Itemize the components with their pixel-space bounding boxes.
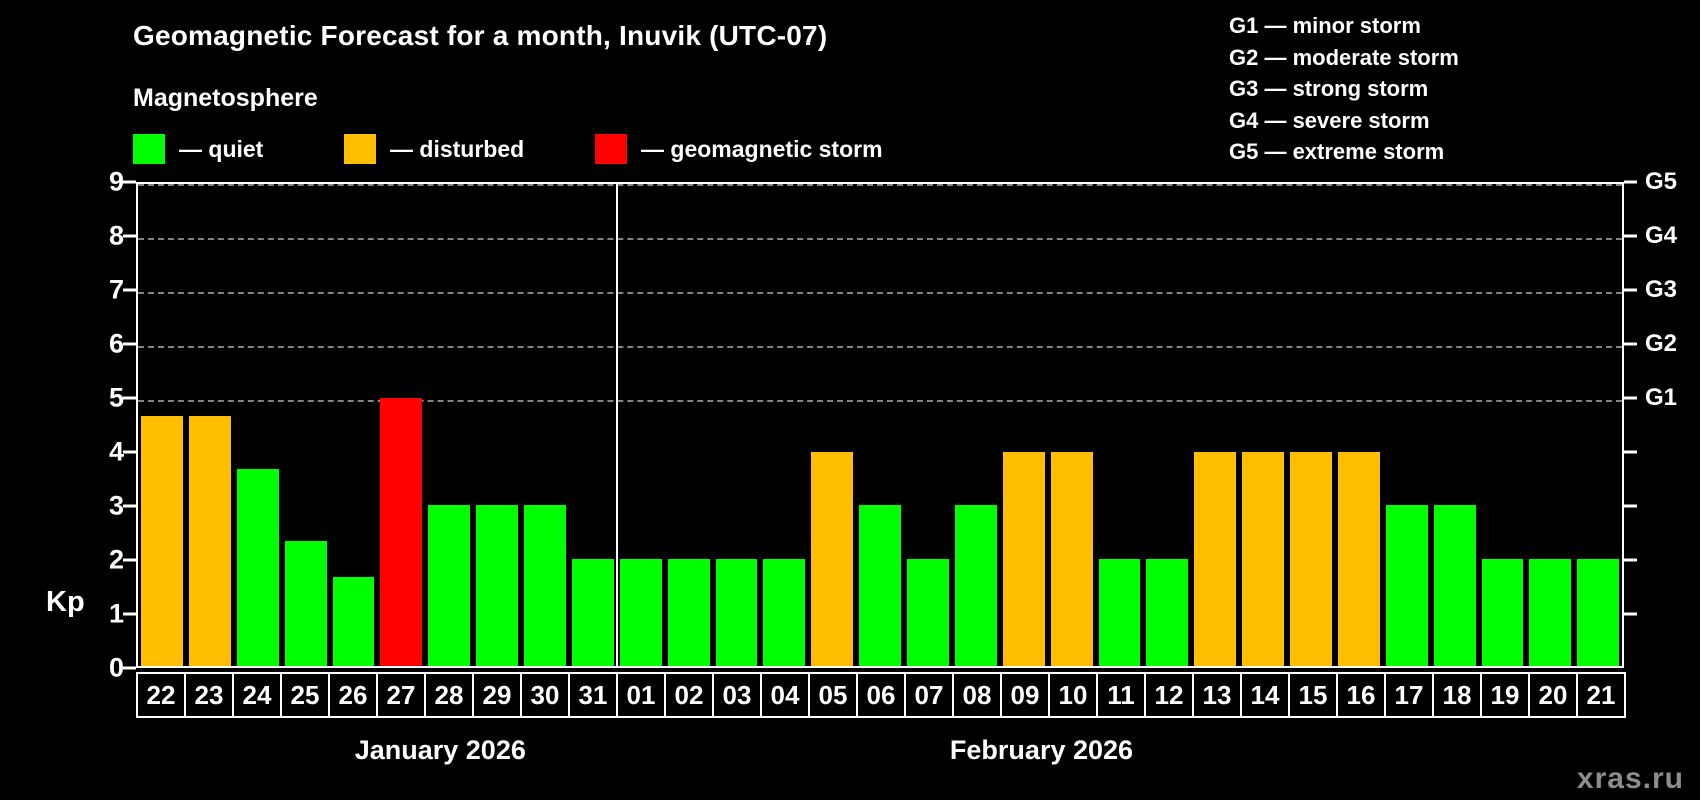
bar (907, 559, 949, 666)
watermark: xras.ru (1577, 762, 1684, 796)
y-tick-mark (123, 289, 136, 292)
y-tick-label: 8 (109, 221, 124, 252)
day-label: 10 (1048, 672, 1098, 718)
y-tick-label: 3 (109, 491, 124, 522)
legend-item: — geomagnetic storm (595, 132, 883, 166)
bar (716, 559, 758, 666)
y-tick-mark (123, 559, 136, 562)
bar-cell (1431, 184, 1479, 666)
legend-swatch (595, 134, 627, 164)
storm-scale-legend: G1 — minor stormG2 — moderate stormG3 — … (1229, 10, 1459, 168)
day-label: 29 (472, 672, 522, 718)
y-tick-label: 4 (109, 437, 124, 468)
g-scale-axis: G1G2G3G4G5 (1624, 182, 1700, 668)
bar (668, 559, 710, 666)
day-label: 02 (664, 672, 714, 718)
bar (811, 452, 853, 666)
day-labels-row: 2223242526272829303101020304050607080910… (136, 672, 1624, 718)
g-tick-mark (1624, 235, 1637, 238)
legend-label: — quiet (179, 136, 263, 163)
bar-cell (904, 184, 952, 666)
bar-cell (856, 184, 904, 666)
day-label: 09 (1000, 672, 1050, 718)
bar-cell (425, 184, 473, 666)
bar (428, 505, 470, 666)
legend-label: — geomagnetic storm (641, 136, 883, 163)
day-label: 13 (1192, 672, 1242, 718)
g-tick-label: G3 (1645, 276, 1677, 304)
bar-cell (1335, 184, 1383, 666)
bar (1099, 559, 1141, 666)
g-tick-label: G4 (1645, 222, 1677, 250)
day-label: 19 (1480, 672, 1530, 718)
bar (1338, 452, 1380, 666)
day-label: 16 (1336, 672, 1386, 718)
day-label: 25 (280, 672, 330, 718)
day-label: 11 (1096, 672, 1146, 718)
bar (380, 398, 422, 666)
legend-label: — disturbed (390, 136, 524, 163)
legend-swatch (133, 134, 165, 164)
bar (859, 505, 901, 666)
bar (476, 505, 518, 666)
bar-cell (138, 184, 186, 666)
y-axis-label: Kp (46, 586, 85, 619)
day-label: 21 (1576, 672, 1626, 718)
month-label: January 2026 (355, 735, 526, 766)
y-tick-mark (123, 397, 136, 400)
storm-scale-row: G4 — severe storm (1229, 105, 1459, 137)
day-label: 18 (1432, 672, 1482, 718)
legend-swatch (344, 134, 376, 164)
bar (1003, 452, 1045, 666)
bar-cell (234, 184, 282, 666)
day-label: 07 (904, 672, 954, 718)
day-label: 08 (952, 672, 1002, 718)
y-tick-mark (123, 667, 136, 670)
bar (1482, 559, 1524, 666)
y-tick-mark (123, 613, 136, 616)
bar-cell (569, 184, 617, 666)
bar-cell (1000, 184, 1048, 666)
bar (189, 416, 231, 666)
y-tick-mark (123, 451, 136, 454)
day-label: 01 (616, 672, 666, 718)
bar-cell (521, 184, 569, 666)
bar (1386, 505, 1428, 666)
g-tick-mark (1624, 559, 1637, 562)
bar-cell (760, 184, 808, 666)
bar (1434, 505, 1476, 666)
bar (1194, 452, 1236, 666)
day-label: 28 (424, 672, 474, 718)
bar (285, 541, 327, 666)
day-label: 22 (136, 672, 186, 718)
y-tick-mark (123, 181, 136, 184)
g-tick-mark (1624, 343, 1637, 346)
y-tick-label: 9 (109, 167, 124, 198)
g-tick-label: G1 (1645, 384, 1677, 412)
bar (333, 577, 375, 666)
g-tick-label: G5 (1645, 168, 1677, 196)
bar-cell (282, 184, 330, 666)
g-tick-mark (1624, 505, 1637, 508)
g-tick-label: G2 (1645, 330, 1677, 358)
storm-scale-row: G5 — extreme storm (1229, 136, 1459, 168)
y-tick-mark (123, 235, 136, 238)
day-label: 30 (520, 672, 570, 718)
storm-scale-row: G1 — minor storm (1229, 10, 1459, 42)
day-label: 04 (760, 672, 810, 718)
day-label: 05 (808, 672, 858, 718)
y-tick-label: 7 (109, 275, 124, 306)
day-label: 23 (184, 672, 234, 718)
bar (524, 505, 566, 666)
bar-cell (665, 184, 713, 666)
chart-subtitle: Magnetosphere (133, 84, 318, 113)
g-tick-mark (1624, 181, 1637, 184)
bar-cell (808, 184, 856, 666)
bar (141, 416, 183, 666)
bar-cell (1048, 184, 1096, 666)
page-title: Geomagnetic Forecast for a month, Inuvik… (133, 20, 827, 52)
bar (1242, 452, 1284, 666)
day-label: 12 (1144, 672, 1194, 718)
bar (1146, 559, 1188, 666)
bar-cell (473, 184, 521, 666)
bar-cell (713, 184, 761, 666)
bar (572, 559, 614, 666)
bar-cell (1383, 184, 1431, 666)
day-label: 26 (328, 672, 378, 718)
day-label: 06 (856, 672, 906, 718)
bar (620, 559, 662, 666)
y-axis: Kp 0123456789 (0, 182, 136, 668)
storm-scale-row: G2 — moderate storm (1229, 42, 1459, 74)
day-label: 17 (1384, 672, 1434, 718)
legend-item: — quiet (133, 132, 263, 166)
g-tick-mark (1624, 289, 1637, 292)
geomagnetic-forecast-chart: Geomagnetic Forecast for a month, Inuvik… (0, 0, 1700, 800)
y-tick-mark (123, 343, 136, 346)
day-label: 20 (1528, 672, 1578, 718)
bar-cell (1191, 184, 1239, 666)
storm-scale-row: G3 — strong storm (1229, 73, 1459, 105)
bar-series (138, 184, 1622, 666)
day-label: 31 (568, 672, 618, 718)
bar-cell (1096, 184, 1144, 666)
bar-cell (1143, 184, 1191, 666)
g-tick-mark (1624, 613, 1637, 616)
y-tick-label: 0 (109, 653, 124, 684)
month-label: February 2026 (950, 735, 1133, 766)
y-tick-label: 5 (109, 383, 124, 414)
y-tick-label: 6 (109, 329, 124, 360)
y-tick-label: 1 (109, 599, 124, 630)
bar-cell (1479, 184, 1527, 666)
bar-cell (1287, 184, 1335, 666)
bar (955, 505, 997, 666)
bar (1577, 559, 1619, 666)
bar-cell (186, 184, 234, 666)
g-tick-mark (1624, 397, 1637, 400)
g-tick-mark (1624, 451, 1637, 454)
bar-cell (1239, 184, 1287, 666)
day-label: 27 (376, 672, 426, 718)
bar (1529, 559, 1571, 666)
plot-area (136, 182, 1624, 668)
legend-item: — disturbed (344, 132, 524, 166)
bar-cell (1526, 184, 1574, 666)
y-tick-mark (123, 505, 136, 508)
day-label: 15 (1288, 672, 1338, 718)
bar (1051, 452, 1093, 666)
bar-cell (330, 184, 378, 666)
bar-cell (1574, 184, 1622, 666)
bar-cell (952, 184, 1000, 666)
bar-cell (617, 184, 665, 666)
day-label: 03 (712, 672, 762, 718)
day-label: 24 (232, 672, 282, 718)
bar (237, 469, 279, 666)
bar (763, 559, 805, 666)
bar-cell (377, 184, 425, 666)
day-label: 14 (1240, 672, 1290, 718)
bar (1290, 452, 1332, 666)
y-tick-label: 2 (109, 545, 124, 576)
